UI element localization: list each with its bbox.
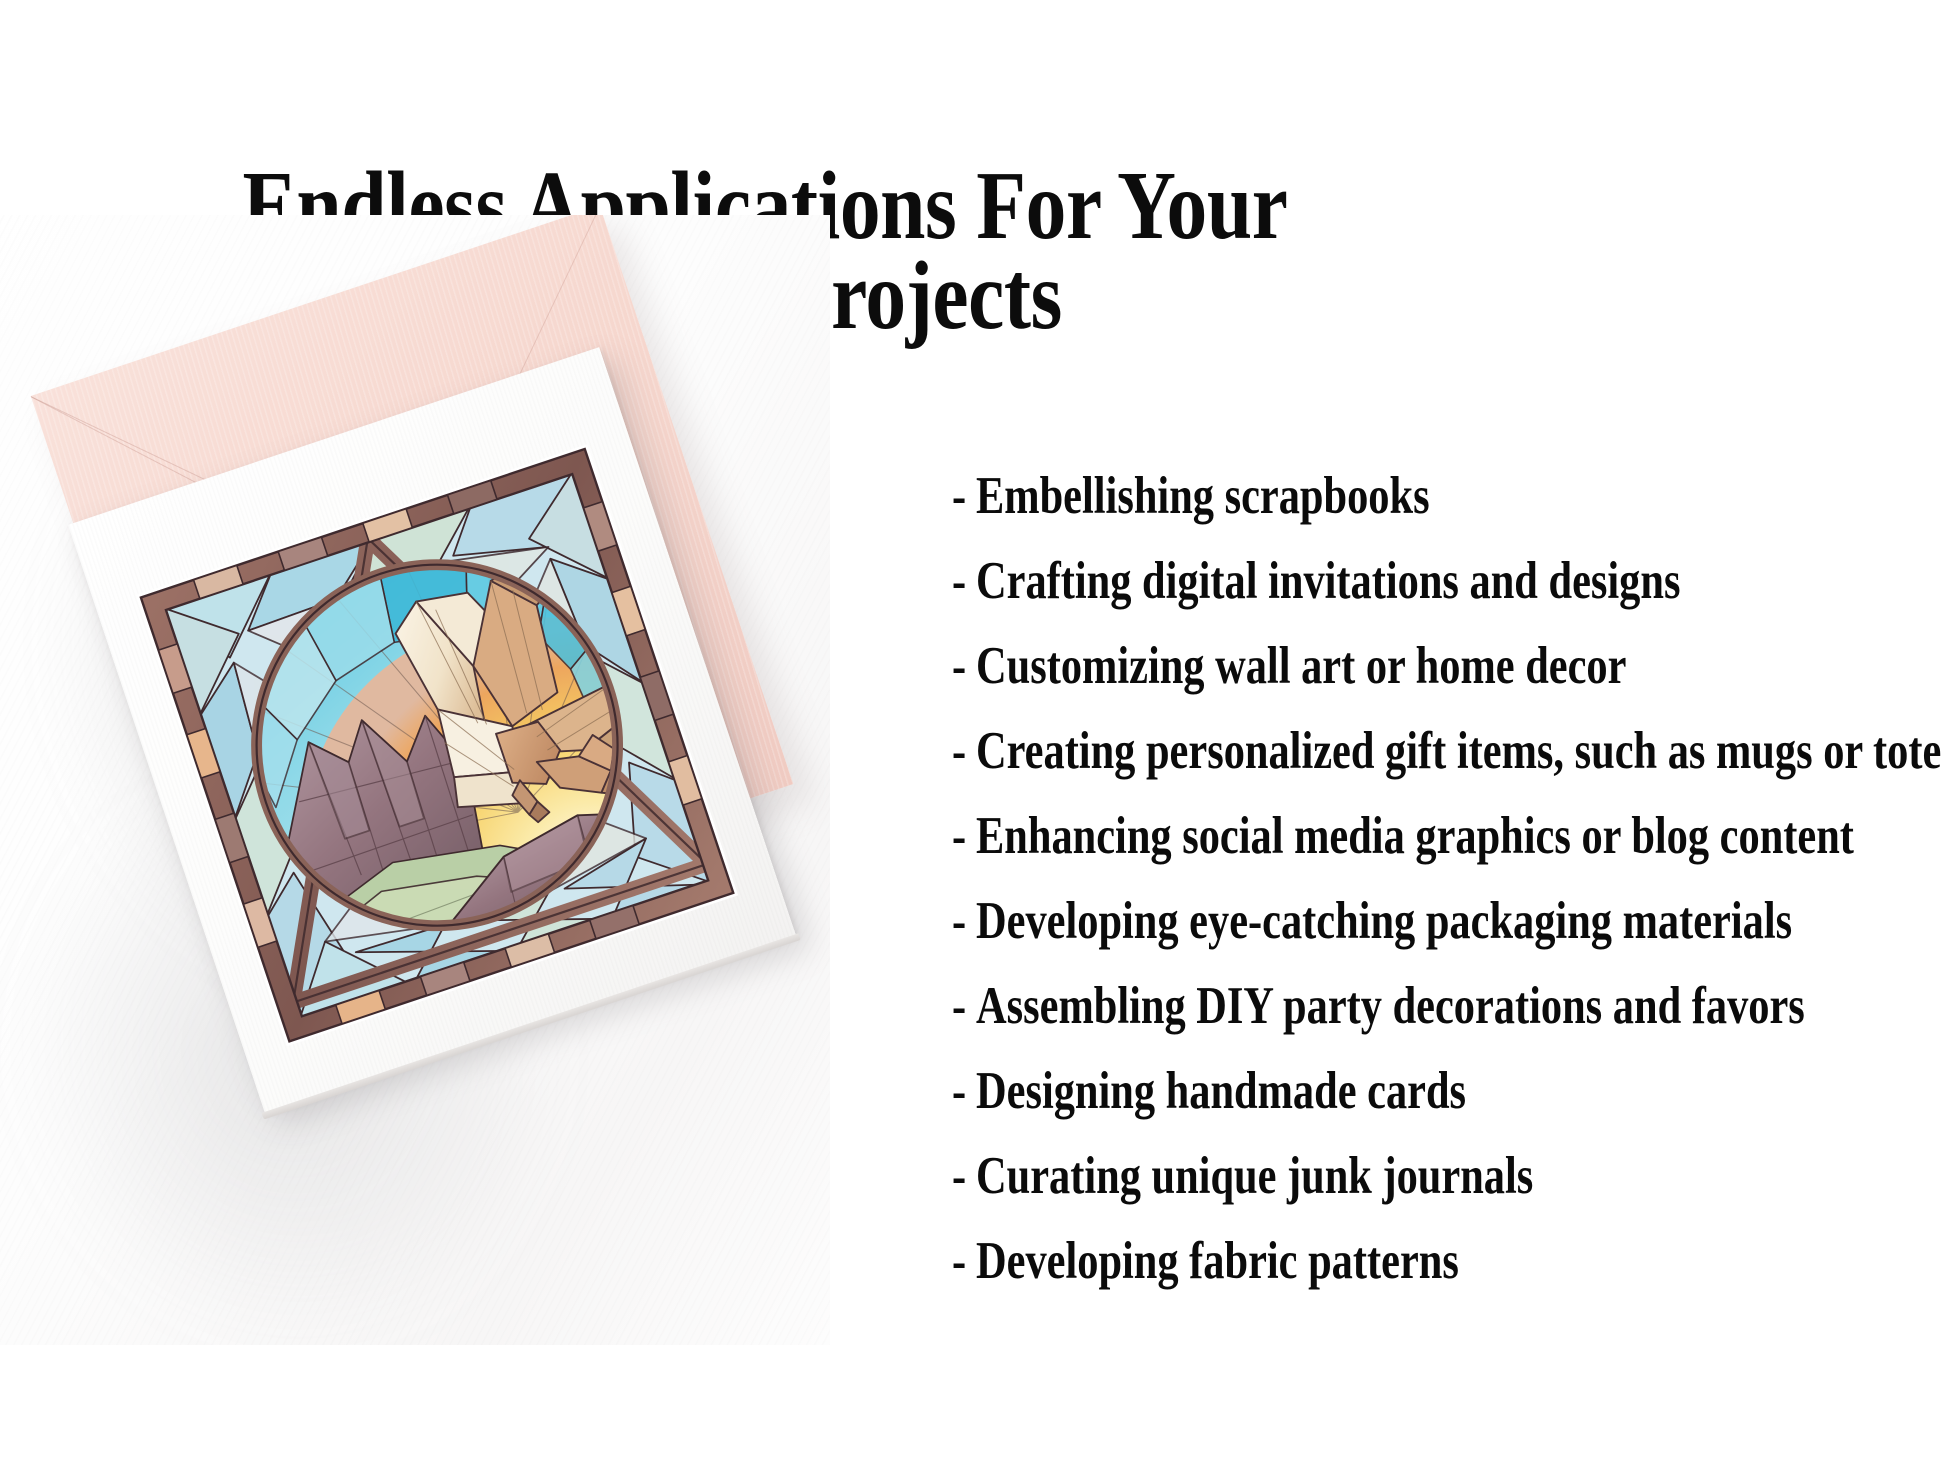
- list-item-label: Curating unique junk journals: [976, 1150, 1533, 1203]
- list-item: -Developing fabric patterns: [952, 1235, 1946, 1320]
- list-bullet-dash: -: [952, 1065, 976, 1118]
- list-bullet-dash: -: [952, 1150, 976, 1203]
- list-item-label: Crafting digital invitations and designs: [976, 555, 1680, 608]
- list-bullet-dash: -: [952, 980, 976, 1033]
- list-bullet-dash: -: [952, 1235, 976, 1288]
- list-item-label: Creating personalized gift items, such a…: [976, 725, 1946, 778]
- list-bullet-dash: -: [952, 810, 976, 863]
- list-item: -Enhancing social media graphics or blog…: [952, 810, 1946, 895]
- list-bullet-dash: -: [952, 555, 976, 608]
- list-bullet-dash: -: [952, 470, 976, 523]
- list-item: -Curating unique junk journals: [952, 1150, 1946, 1235]
- list-item: -Developing eye-catching packaging mater…: [952, 895, 1946, 980]
- product-mockup-photo: [0, 215, 830, 1345]
- stained-glass-pterodactyl-artwork: [136, 444, 738, 1046]
- list-item: -Creating personalized gift items, such …: [952, 725, 1946, 810]
- list-item: -Assembling DIY party decorations and fa…: [952, 980, 1946, 1065]
- list-item-label: Developing eye-catching packaging materi…: [976, 895, 1792, 948]
- list-item-label: Customizing wall art or home decor: [976, 640, 1626, 693]
- list-item: -Crafting digital invitations and design…: [952, 555, 1946, 640]
- list-item-label: Assembling DIY party decorations and fav…: [976, 980, 1805, 1033]
- list-item: -Designing handmade cards: [952, 1065, 1946, 1150]
- list-bullet-dash: -: [952, 725, 976, 778]
- list-item-label: Embellishing scrapbooks: [976, 470, 1430, 523]
- list-item: -Customizing wall art or home decor: [952, 640, 1946, 725]
- list-bullet-dash: -: [952, 895, 976, 948]
- list-item-label: Enhancing social media graphics or blog …: [976, 810, 1854, 863]
- list-item-label: Developing fabric patterns: [976, 1235, 1459, 1288]
- list-item: -Embellishing scrapbooks: [952, 470, 1946, 555]
- applications-list: -Embellishing scrapbooks-Crafting digita…: [952, 470, 1946, 1320]
- list-bullet-dash: -: [952, 640, 976, 693]
- list-item-label: Designing handmade cards: [976, 1065, 1466, 1118]
